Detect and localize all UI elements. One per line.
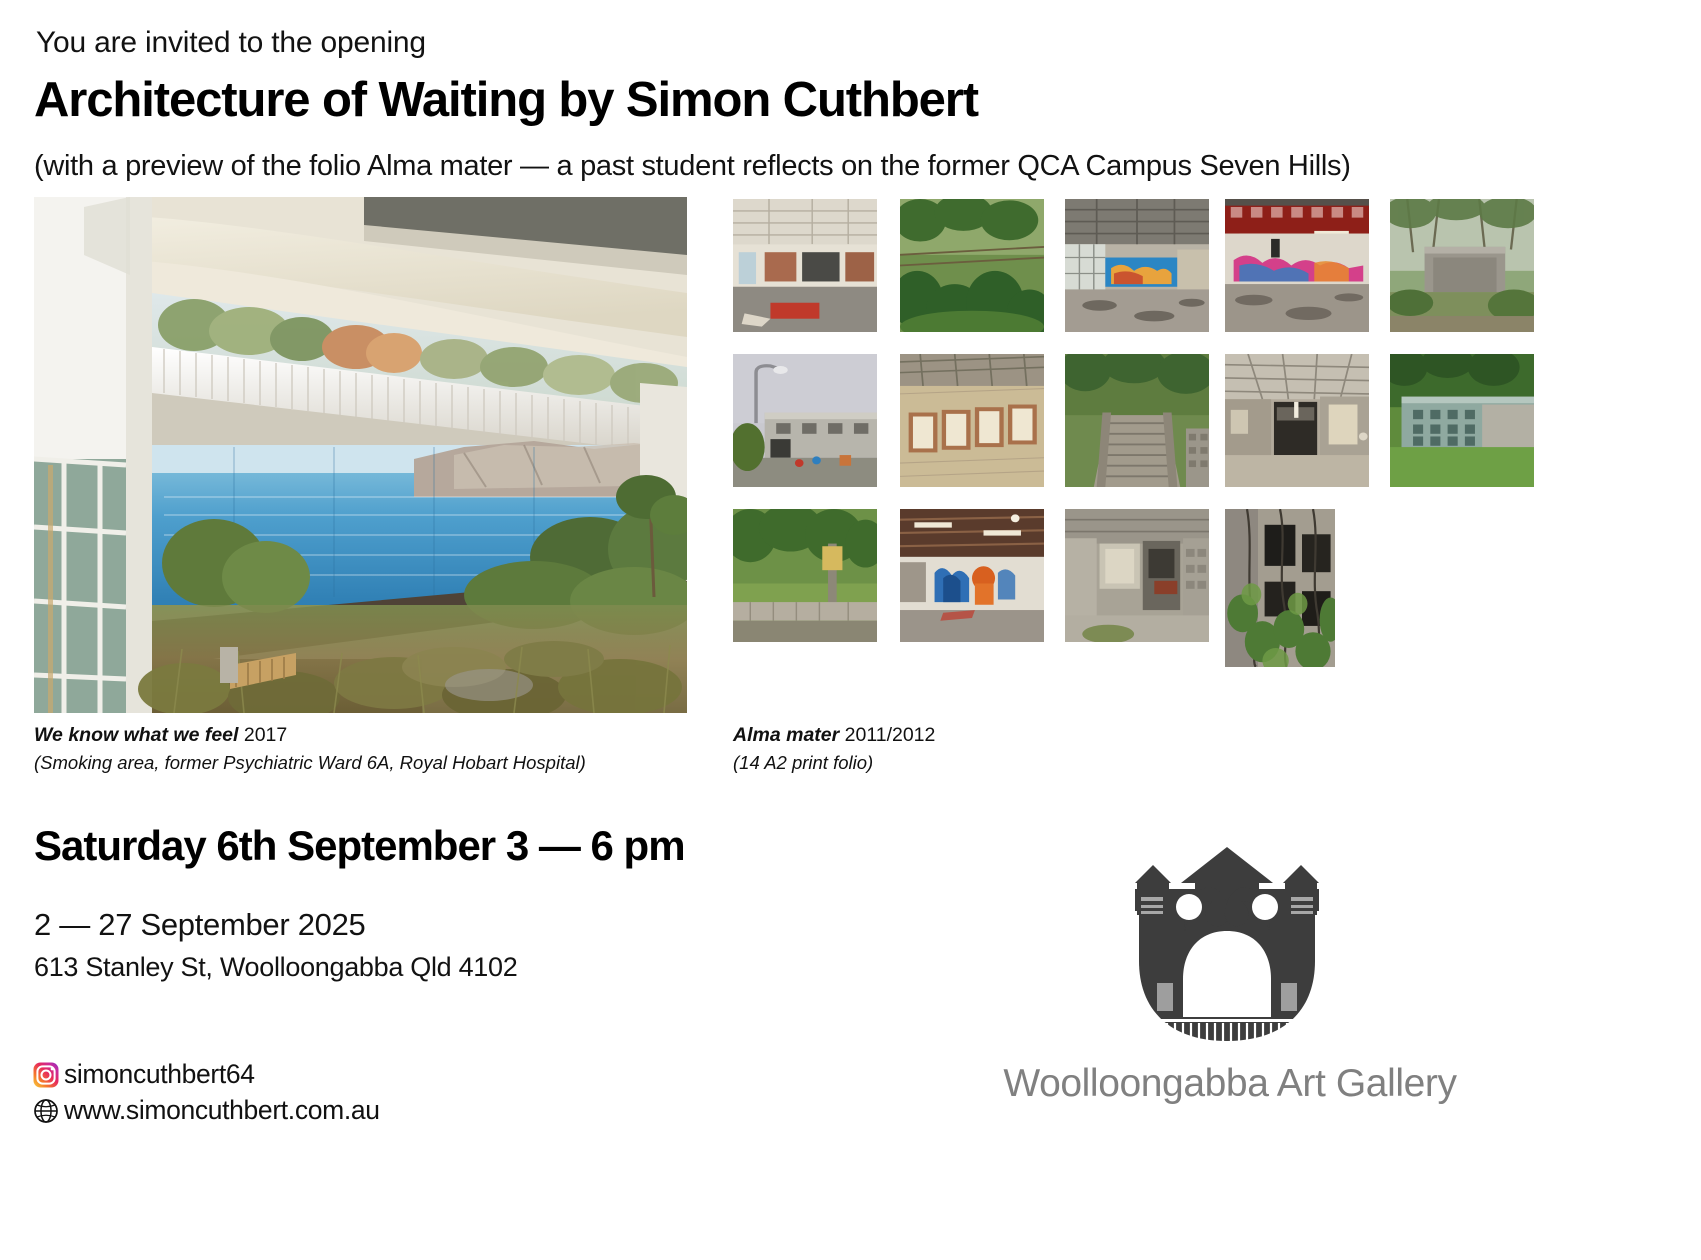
thumb-concrete-entry-lobby bbox=[1065, 509, 1209, 642]
instagram-icon bbox=[33, 1062, 64, 1088]
artist-name: by Simon Cuthbert bbox=[546, 73, 978, 127]
invite-line: You are invited to the opening bbox=[36, 26, 426, 60]
folio-caption-title: Alma mater bbox=[733, 724, 839, 746]
thumb-concrete-block-trees-art bbox=[1390, 199, 1534, 332]
hero-photograph-art bbox=[34, 197, 687, 713]
hero-caption: We know what we feel 2017 (Smoking area,… bbox=[34, 722, 734, 776]
thumb-overgrown-fence-trees-art bbox=[900, 199, 1044, 332]
thumb-concrete-block-trees bbox=[1390, 199, 1534, 332]
thumb-concrete-entry-lobby-art bbox=[1065, 509, 1209, 642]
folio-caption-year: 2011/2012 bbox=[839, 724, 935, 746]
folio-caption-sub: (14 A2 print folio) bbox=[733, 750, 1333, 776]
venue-address: 613 Stanley St, Woolloongabba Qld 4102 bbox=[34, 952, 517, 983]
instagram-row[interactable]: simoncuthbert64 bbox=[33, 1058, 380, 1091]
thumb-classroom-red-bench-art bbox=[733, 199, 877, 332]
thumb-blue-orange-mural-interior bbox=[900, 509, 1044, 642]
folio-thumbnail-grid bbox=[733, 199, 1533, 669]
hero-caption-year: 2017 bbox=[238, 724, 287, 746]
folio-caption: Alma mater 2011/2012 (14 A2 print folio) bbox=[733, 722, 1333, 776]
exhibition-title: Architecture of Waiting bbox=[34, 73, 546, 127]
thumb-breezeblock-wall-lawn bbox=[1390, 354, 1534, 487]
page-title: Architecture of Waiting by Simon Cuthber… bbox=[34, 72, 978, 128]
thumb-graffiti-hall-windows bbox=[1065, 199, 1209, 332]
contact-block: simoncuthbert64 www.simoncuthbert.com.au bbox=[33, 1058, 380, 1130]
globe-icon bbox=[33, 1098, 64, 1124]
exhibition-subtitle: (with a preview of the folio Alma mater … bbox=[34, 150, 1351, 183]
thumb-coffered-corridor-art bbox=[1225, 354, 1369, 487]
thumb-streetlight-building-art bbox=[733, 354, 877, 487]
website-url[interactable]: www.simoncuthbert.com.au bbox=[64, 1095, 380, 1126]
invitation-poster: You are invited to the opening Architect… bbox=[0, 0, 1701, 1260]
thumb-vines-broken-windows-art bbox=[1225, 509, 1335, 667]
gallery-logo bbox=[1077, 845, 1377, 1045]
gallery-name: Woolloongabba Art Gallery bbox=[940, 1062, 1520, 1106]
hero-caption-sub: (Smoking area, former Psychiatric Ward 6… bbox=[34, 750, 734, 776]
thumb-blue-orange-mural-interior-art bbox=[900, 509, 1044, 642]
thumb-coffered-corridor bbox=[1225, 354, 1369, 487]
instagram-handle[interactable]: simoncuthbert64 bbox=[64, 1059, 255, 1090]
thumb-trees-signpost-wall bbox=[733, 509, 877, 642]
hero-caption-title: We know what we feel bbox=[34, 724, 238, 746]
thumb-classroom-red-bench bbox=[733, 199, 877, 332]
woolloongabba-art-gallery-building-logo bbox=[1077, 845, 1377, 1045]
website-row[interactable]: www.simoncuthbert.com.au bbox=[33, 1094, 380, 1127]
thumb-breezeblock-wall-lawn-art bbox=[1390, 354, 1534, 487]
thumb-streetlight-building bbox=[733, 354, 877, 487]
thumb-overgrown-fence-trees bbox=[900, 199, 1044, 332]
thumb-red-ceiling-graffiti-room-art bbox=[1225, 199, 1369, 332]
opening-datetime: Saturday 6th September 3 — 6 pm bbox=[34, 822, 685, 870]
exhibition-dates: 2 — 27 September 2025 bbox=[34, 907, 365, 943]
thumb-framed-drawings-wall bbox=[900, 354, 1044, 487]
thumb-graffiti-hall-windows-art bbox=[1065, 199, 1209, 332]
thumb-red-ceiling-graffiti-room bbox=[1225, 199, 1369, 332]
thumb-vines-broken-windows bbox=[1225, 509, 1335, 667]
thumb-concrete-stairs-bamboo-art bbox=[1065, 354, 1209, 487]
thumb-framed-drawings-wall-art bbox=[900, 354, 1044, 487]
thumb-concrete-stairs-bamboo bbox=[1065, 354, 1209, 487]
thumb-trees-signpost-wall-art bbox=[733, 509, 877, 642]
hero-photograph bbox=[34, 197, 687, 713]
